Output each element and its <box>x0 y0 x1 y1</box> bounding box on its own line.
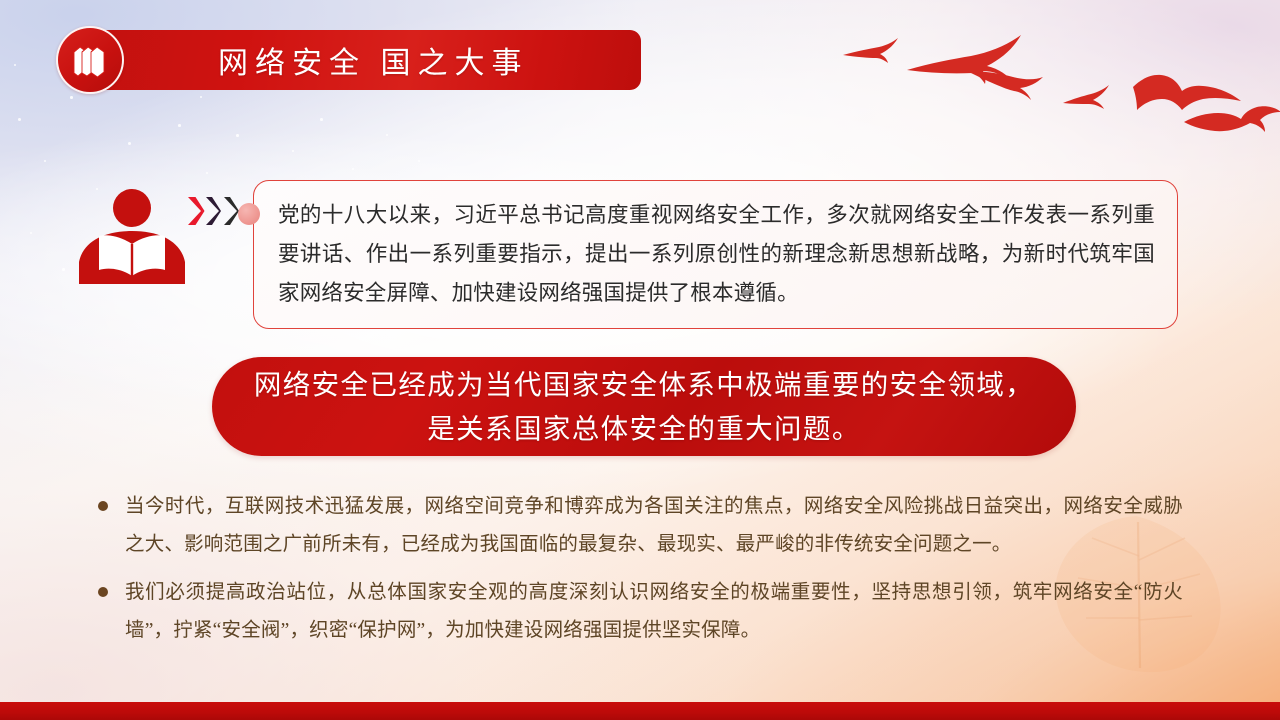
triple-chevron-right-icon <box>188 196 241 226</box>
badge-circle <box>56 26 124 94</box>
chevron-right-icon-2 <box>206 196 223 226</box>
highlight-banner-line-2: 是关系国家总体安全的重大问题。 <box>427 407 861 451</box>
quote-text: 党的十八大以来，习近平总书记高度重视网络安全工作，多次就网络安全工作发表一系列重… <box>278 196 1155 313</box>
bullet-dot-icon <box>98 587 108 597</box>
list-item-text: 当今时代，互联网技术迅猛发展，网络空间竞争和博弈成为各国关注的焦点，网络安全风险… <box>125 488 1183 564</box>
books-icon <box>70 41 110 79</box>
bottom-accent-bar <box>0 702 1280 720</box>
highlight-banner: 网络安全已经成为当代国家安全体系中极端重要的安全领域， 是关系国家总体安全的重大… <box>212 357 1076 456</box>
bullet-dot-icon <box>98 501 108 511</box>
person-reading-book-icon <box>75 188 190 298</box>
highlight-banner-line-1: 网络安全已经成为当代国家安全体系中极端重要的安全领域， <box>254 363 1034 407</box>
flying-birds-icon <box>835 25 1280 170</box>
title-bar: 网络安全 国之大事 <box>88 30 641 90</box>
quote-box: 党的十八大以来，习近平总书记高度重视网络安全工作，多次就网络安全工作发表一系列重… <box>253 180 1178 329</box>
pink-dot-icon <box>238 203 260 225</box>
list-item: 当今时代，互联网技术迅猛发展，网络空间竞争和博弈成为各国关注的焦点，网络安全风险… <box>98 488 1183 564</box>
list-item-text: 我们必须提高政治站位，从总体国家安全观的高度深刻认识网络安全的极端重要性，坚持思… <box>125 574 1183 650</box>
page-title: 网络安全 国之大事 <box>218 38 529 82</box>
presentation-slide: 网络安全 国之大事 <box>0 0 1280 720</box>
list-item: 我们必须提高政治站位，从总体国家安全观的高度深刻认识网络安全的极端重要性，坚持思… <box>98 574 1183 650</box>
chevron-right-icon-1 <box>188 196 205 226</box>
bullet-list: 当今时代，互联网技术迅猛发展，网络空间竞争和博弈成为各国关注的焦点，网络安全风险… <box>98 488 1183 660</box>
